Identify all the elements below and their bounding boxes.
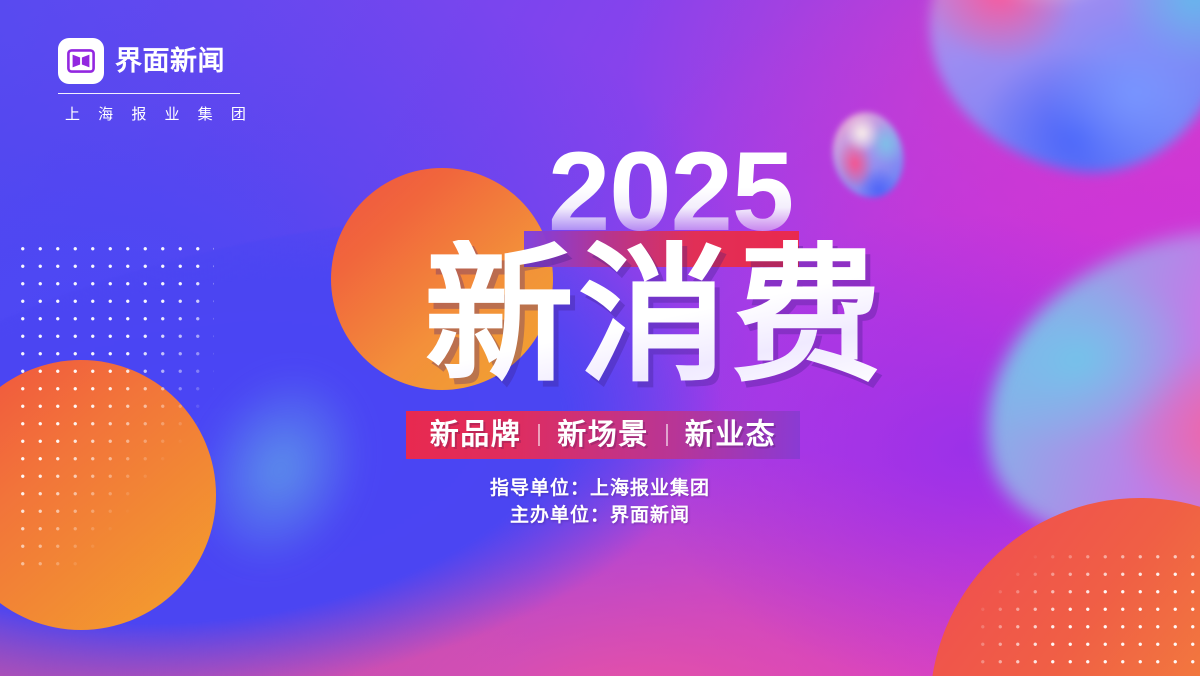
credits-block: 指导单位：上海报业集团 主办单位：界面新闻 — [0, 476, 1200, 530]
poster-canvas: 界面新闻 上 海 报 业 集 团 2025 新消费 新品牌 新场景 新业态 指导… — [0, 0, 1200, 676]
tagline-item-1: 新品牌 — [413, 421, 539, 450]
jiemian-screen-icon — [58, 38, 104, 84]
tagline-item-2: 新场景 — [540, 421, 666, 450]
parent-group-name: 上 海 报 业 集 团 — [58, 103, 240, 124]
credit-line-organizer: 主办单位：界面新闻 — [0, 503, 1200, 530]
tagline-band: 新品牌 新场景 新业态 — [406, 411, 800, 459]
credit-line-guiding-unit: 指导单位：上海报业集团 — [0, 476, 1200, 503]
dot-grid-bottom-right-decoration — [974, 548, 1200, 676]
iridescent-pebble-shape — [827, 108, 908, 203]
iridescent-blob-top-right — [907, 0, 1200, 194]
brand-logo-row: 界面新闻 — [58, 38, 240, 84]
logo-divider-rule — [58, 93, 240, 94]
tagline-item-3: 新业态 — [668, 421, 794, 450]
brand-name: 界面新闻 — [115, 48, 225, 75]
teal-wisp-shape — [92, 262, 468, 676]
brand-logo-lockup[interactable]: 界面新闻 上 海 报 业 集 团 — [58, 38, 240, 124]
page-title: 新消费 — [424, 240, 886, 390]
